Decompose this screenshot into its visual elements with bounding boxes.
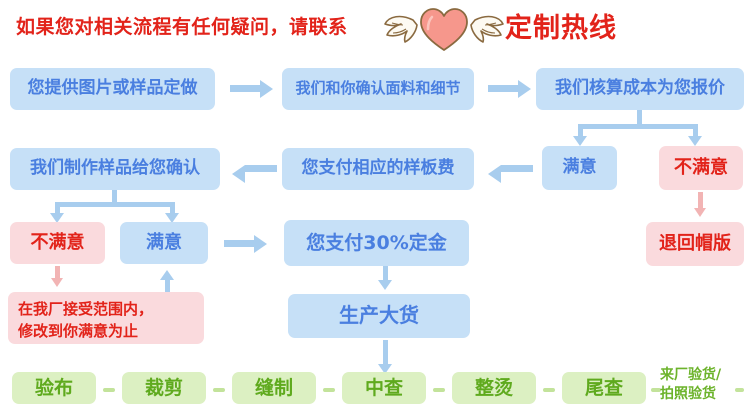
flow-box-factory-inspection[interactable]: 来厂验货/ 拍照验货: [660, 362, 738, 408]
arrow-right-icon-row1-2: [518, 80, 531, 98]
header-question-text: 如果您对相关流程有任何疑问，请联系: [16, 12, 348, 39]
flow-box-confirm-fabric[interactable]: 我们和你确认面料和细节: [282, 68, 474, 110]
winged-heart-icon: [383, 4, 505, 52]
green-connector-1: [103, 388, 115, 392]
green-connector-4: [433, 388, 445, 392]
arrow-down-icon-unsatisfied1: [688, 136, 702, 146]
flow-box-mass-production[interactable]: 生产大货: [288, 294, 470, 338]
arrow-right-icon-row1-1: [260, 80, 273, 98]
flow-box-final-inspection[interactable]: 尾查: [562, 372, 646, 404]
arrow-right-icon-row3-1: [254, 235, 267, 253]
branch-bar-sample: [55, 202, 175, 207]
green-connector-3: [323, 388, 335, 392]
flow-box-make-sample[interactable]: 我们制作样品给您确认: [10, 148, 220, 190]
arrow-down-icon-revise: [51, 278, 63, 287]
connector-row1-2: [488, 85, 518, 92]
flow-box-mid-inspection[interactable]: 中查: [342, 372, 426, 404]
arrow-left-icon-row2-2: [488, 165, 501, 183]
flow-box-satisfied-2[interactable]: 满意: [120, 222, 208, 264]
hotline-label: 定制热线: [505, 6, 617, 45]
factory-inspection-line-1: 来厂验货/: [660, 366, 738, 385]
green-connector-2: [213, 388, 225, 392]
flow-box-revise-until-satisfied[interactable]: 在我厂接受范围内， 修改到你满意为止: [8, 292, 204, 344]
flow-box-pay-deposit[interactable]: 您支付30%定金: [284, 220, 469, 266]
flow-box-inspect-fabric[interactable]: 验布: [12, 372, 96, 404]
green-connector-7: [735, 388, 744, 392]
arrow-down-icon-production: [378, 280, 392, 290]
factory-inspection-line-2: 拍照验货: [660, 385, 738, 404]
connector-row1-1: [230, 85, 260, 92]
flow-box-unsatisfied-1[interactable]: 不满意: [659, 146, 743, 190]
revise-line-2: 修改到你满意为止: [18, 321, 194, 343]
arrow-down-icon-return-hat: [694, 208, 706, 217]
arrow-down-icon-satisfied1: [573, 136, 587, 146]
branch-bar-quote: [578, 124, 698, 129]
flow-box-payment-shipment[interactable]: 付款出货: [744, 376, 750, 402]
connector-production-down: [383, 340, 388, 366]
flow-box-cutting[interactable]: 裁剪: [122, 372, 206, 404]
flow-box-satisfied-1[interactable]: 满意: [542, 146, 617, 190]
header-banner: 如果您对相关流程有任何疑问，请联系 定制热线: [0, 0, 750, 55]
revise-line-1: 在我厂接受范围内，: [18, 299, 194, 321]
arrow-up-icon-satisfied2: [160, 270, 174, 280]
connector-row2-2: [501, 165, 533, 172]
flow-box-cost-quote[interactable]: 我们核算成本为您报价: [536, 68, 744, 110]
flowchart-page: 如果您对相关流程有任何疑问，请联系 定制热线: [0, 0, 750, 419]
flow-box-sewing[interactable]: 缝制: [232, 372, 316, 404]
green-connector-5: [543, 388, 555, 392]
arrow-left-icon-row2-1: [232, 165, 245, 183]
flow-box-unsatisfied-2[interactable]: 不满意: [10, 222, 105, 264]
connector-row2-1: [245, 165, 277, 172]
flow-box-provide-image[interactable]: 您提供图片或样品定做: [10, 68, 215, 110]
connector-row3-1: [224, 240, 254, 247]
flow-box-ironing[interactable]: 整烫: [452, 372, 536, 404]
flow-box-pay-sample-fee[interactable]: 您支付相应的样板费: [282, 148, 474, 190]
flow-box-return-hat-sample[interactable]: 退回帽版: [646, 222, 744, 266]
